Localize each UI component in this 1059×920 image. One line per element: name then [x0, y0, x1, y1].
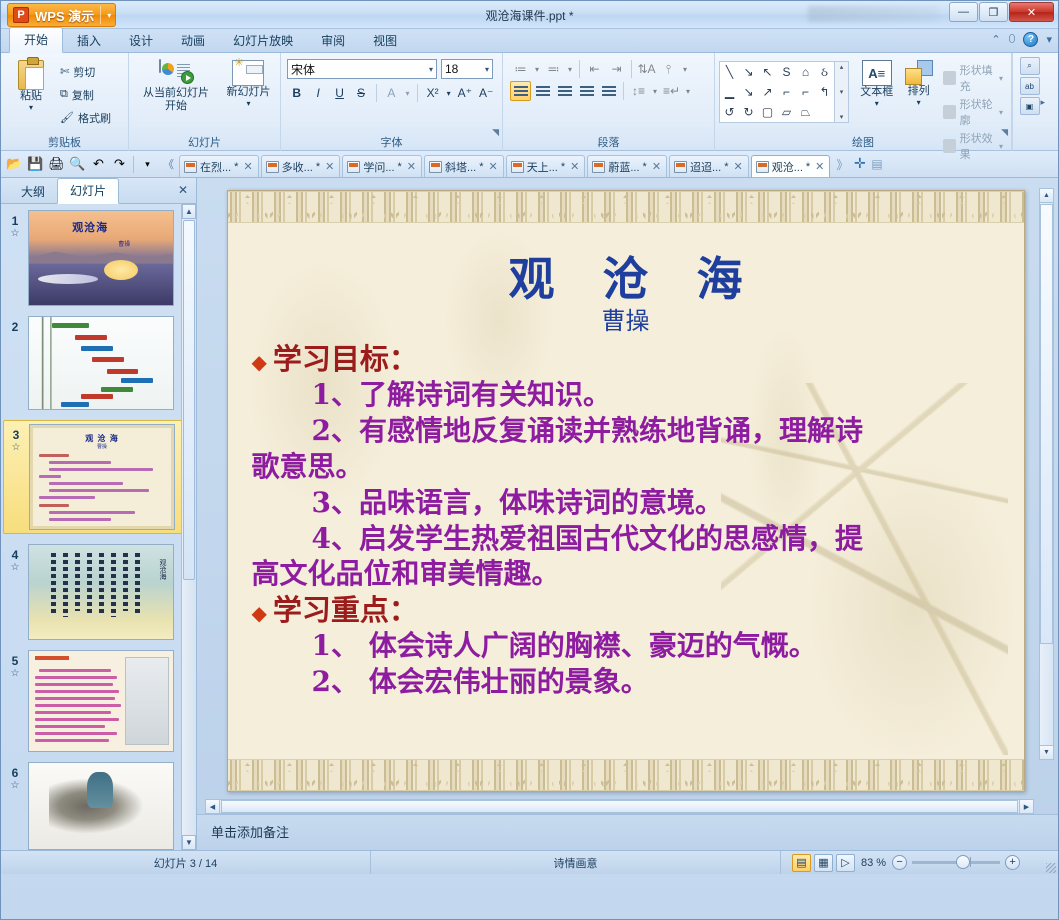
shape-arrow-2[interactable]: ↘ [739, 82, 758, 102]
shape-rectangle[interactable]: ▢ [758, 102, 777, 122]
shape-grid[interactable]: ╲ ↘ ↖ S ⌂ ઠ ▁ ↘ ↗ ⌐ ⌐ ↰ ↺ ↻ ▢ [719, 61, 835, 123]
increase-indent-button[interactable]: ⇥ [606, 59, 627, 79]
scrollbar-thumb[interactable] [1040, 204, 1053, 644]
doc-tab-label: 天上... [527, 159, 558, 175]
zoom-slider[interactable] [912, 861, 1000, 864]
chevron-down-icon[interactable]: ▾ [485, 65, 489, 74]
group-title-font: 字体 [281, 134, 502, 150]
slide-number: 3 ☆ [6, 424, 26, 453]
chevron-down-icon[interactable]: ▾ [683, 81, 693, 101]
ribbon-tab-view[interactable]: 视图 [359, 29, 411, 53]
slide-vertical-scrollbar[interactable]: ▲ ▼ [1039, 188, 1054, 760]
new-slide-icon: ✳ [232, 60, 264, 86]
ribbon-tab-slideshow[interactable]: 幻灯片放映 [219, 29, 307, 53]
doc-tab-1[interactable]: 在烈... * ✕ [179, 155, 259, 177]
doc-tab-modified: * [316, 161, 320, 173]
shrink-font-button[interactable]: A⁻ [477, 83, 496, 103]
thumbnail-preview[interactable] [28, 650, 174, 752]
doc-tab-modified: * [724, 161, 728, 173]
presentation-file-icon [511, 161, 524, 173]
doc-tab-6[interactable]: 蔚蓝... * ✕ [587, 155, 667, 177]
zoom-level: 83 % [861, 857, 886, 869]
drawing-dialog-launcher[interactable]: ◥ [1001, 127, 1008, 138]
view-normal-button[interactable]: ▤ [792, 854, 811, 872]
wps-presentation-window: P WPS 演示 ▾ 观沧海课件.ppt * — ❐ ✕ 开始 插入 设计 动画… [0, 0, 1059, 920]
divider [376, 84, 377, 102]
align-right-button[interactable] [554, 81, 575, 101]
greek-key-pattern [228, 192, 1024, 222]
pen-icon [943, 105, 956, 119]
body-line: 歌意思。 [252, 449, 1000, 485]
slide-counter: 幻灯片 3 / 14 [1, 851, 371, 874]
close-icon[interactable]: ✕ [733, 160, 742, 173]
scissors-icon: ✄ [60, 65, 69, 78]
scrollbar-thumb[interactable] [221, 800, 1018, 813]
tab-slides[interactable]: 幻灯片 [57, 178, 119, 204]
body-line: 高文化品位和审美情趣。 [252, 556, 1000, 592]
scroll-down-icon[interactable]: ▼ [182, 835, 196, 850]
font-name-combo[interactable]: 宋体 ▾ [287, 59, 437, 79]
start-from-current-slide-button[interactable]: 从当前幻灯片 开始 [137, 58, 215, 113]
font-dialog-launcher[interactable]: ◥ [492, 127, 499, 138]
font-color-button[interactable]: A [382, 83, 401, 103]
chevron-down-icon[interactable]: ▾ [1046, 33, 1052, 46]
close-button[interactable]: ✕ [1009, 2, 1054, 22]
diamond-bullet-icon: ◆ [252, 350, 267, 375]
italic-button[interactable]: I [308, 83, 327, 103]
bold-button[interactable]: B [287, 83, 306, 103]
doc-tab-label: 学问... [363, 159, 394, 175]
body-line: 3、品味语言，体味诗词的意境。 [252, 485, 1000, 521]
scroll-up-icon[interactable]: ▲ [1040, 189, 1053, 203]
paste-button[interactable]: 粘贴 ▾ [5, 58, 57, 112]
replace-icon[interactable]: ab [1020, 77, 1040, 95]
section-heading-2: ◆ 学习重点： [252, 592, 1000, 628]
chevron-down-icon[interactable]: ▾ [429, 65, 433, 74]
distributed-icon [602, 86, 616, 97]
bottom-border-band [228, 759, 1024, 791]
ribbon-tab-design[interactable]: 设计 [115, 29, 167, 53]
chevron-down-icon[interactable]: ▾ [565, 59, 575, 79]
arrange-icon [905, 60, 933, 85]
body-line: 2、 体会宏伟壮丽的景象。 [252, 664, 1000, 700]
shape-scribble[interactable]: ઠ [815, 62, 834, 82]
ribbon-group-paragraph: ≔ ▾ ≕ ▾ ⇤ ⇥ ⇅A ⫯ ▾ [503, 53, 715, 151]
textbox-button[interactable]: A≡ 文本框 ▾ [855, 58, 899, 108]
thumbnail-preview[interactable]: 观沧海 [28, 544, 174, 640]
notes-placeholder: 单击添加备注 [211, 825, 289, 840]
body-line: 2、有感情地反复诵读并熟练地背诵，理解诗 [252, 413, 1000, 449]
scroll-down-icon[interactable]: ▼ [1040, 745, 1053, 759]
chevron-down-icon[interactable]: ▾ [917, 98, 921, 107]
doc-tab-label: 多收... [282, 159, 313, 175]
doc-tab-label: 观沧... [772, 159, 803, 175]
paintbrush-icon: 🖌 [60, 111, 74, 124]
chevron-down-icon[interactable]: ▾ [444, 83, 453, 103]
align-left-icon [514, 86, 528, 97]
collapse-tabs-icon[interactable]: 《 [158, 154, 179, 175]
shape-trapezoid[interactable]: ⏢ [796, 102, 815, 122]
shape-blank[interactable] [815, 102, 834, 122]
shape-double-arrow[interactable]: ↖ [758, 62, 777, 82]
doc-tab-3[interactable]: 学问... * ✕ [342, 155, 422, 177]
decrease-indent-button[interactable]: ⇤ [584, 59, 605, 79]
chevron-down-icon[interactable]: ▾ [29, 103, 33, 112]
divider [579, 60, 580, 78]
numbering-button[interactable]: ≕ [543, 59, 564, 79]
strikethrough-button[interactable]: S [351, 83, 370, 103]
group-title-slide: 幻灯片 [129, 134, 280, 150]
ribbon-tab-insert[interactable]: 插入 [63, 29, 115, 53]
shape-curve-2[interactable]: ↺ [720, 102, 739, 122]
align-center-icon [536, 86, 550, 97]
slide-number: 2 [5, 316, 25, 334]
shape-elbow-2[interactable]: ⌐ [796, 82, 815, 102]
format-painter-button[interactable]: 🖌 格式刷 [57, 106, 114, 129]
align-center-button[interactable] [532, 81, 553, 101]
slide-horizontal-scrollbar[interactable]: ◀ ▶ [205, 799, 1034, 814]
slide-editor-pane: 观 沧 海 曹操 ◆ 学习目标： 1、了解诗词有关知识。 2、有感情地反复诵读并… [197, 178, 1058, 850]
group-title-clipboard: 剪贴板 [1, 134, 128, 150]
presentation-file-icon [429, 161, 442, 173]
align-left-button[interactable] [510, 81, 531, 101]
transition-icon[interactable]: ☆ [5, 228, 25, 239]
doc-tab-2[interactable]: 多收... * ✕ [261, 155, 341, 177]
doc-tab-label: 斜塔... [445, 159, 476, 175]
zoom-slider-midpoint [970, 857, 971, 867]
close-icon[interactable]: ✕ [570, 160, 579, 173]
ribbon-tab-home[interactable]: 开始 [9, 27, 63, 53]
presentation-file-icon [266, 161, 279, 173]
shape-elbow-1[interactable]: ⌐ [777, 82, 796, 102]
slides-panel: 大纲 幻灯片 ✕ 1 ☆ 观沧海 曹操 [1, 178, 197, 850]
scroll-up-icon[interactable]: ▴ [840, 63, 844, 71]
chevron-down-icon[interactable]: ▾ [875, 99, 879, 108]
shape-fill-label: 形状填充 [960, 62, 995, 94]
thumbnail-item-4[interactable]: 4 ☆ 观沧海 [5, 544, 196, 640]
thumb-title: 观沧海 [72, 219, 108, 235]
thumbnail-preview[interactable] [28, 762, 174, 850]
copy-icon: ⧉ [60, 88, 68, 101]
zoom-slider-handle[interactable] [956, 855, 970, 869]
shape-fill-button[interactable]: 形状填充 ▾ [943, 62, 1003, 94]
font-color-icon: A [387, 86, 395, 100]
thumbnail-item-5[interactable]: 5 ☆ [5, 650, 196, 752]
diamond-bullet-icon: ◆ [252, 601, 267, 626]
close-icon[interactable]: ✕ [652, 160, 661, 173]
undo-icon[interactable]: ↶ [88, 154, 109, 175]
zoom-out-button[interactable]: − [892, 855, 907, 870]
doc-tab-label: 在烈... [200, 159, 231, 175]
title-bar: P WPS 演示 ▾ 观沧海课件.ppt * — ❐ ✕ [1, 1, 1058, 29]
zoom-in-button[interactable]: + [1005, 855, 1020, 870]
heading-text: 学习重点： [273, 592, 418, 628]
print-preview-icon[interactable]: 🔍 [67, 154, 88, 175]
shape-line[interactable]: ╲ [720, 62, 739, 82]
thumb-author: 曹操 [118, 239, 130, 248]
notes-pane[interactable]: 单击添加备注 [197, 814, 1058, 850]
body-line: 1、 体会诗人广阔的胸襟、豪迈的气慨。 [252, 628, 1000, 664]
thumbnail-list[interactable]: 1 ☆ 观沧海 曹操 2 [1, 204, 196, 850]
shape-arrow[interactable]: ↘ [739, 62, 758, 82]
collapse-ribbon-icon[interactable]: ⌃ [991, 33, 1000, 46]
doc-tab-label: 迢迢... [690, 159, 721, 175]
textbox-icon: A≡ [862, 60, 892, 86]
presentation-file-icon [756, 161, 769, 173]
slide-surface[interactable]: 观 沧 海 曹操 ◆ 学习目标： 1、了解诗词有关知识。 2、有感情地反复诵读并… [227, 190, 1025, 792]
justify-icon [580, 86, 594, 97]
shape-curve[interactable]: S [777, 62, 796, 82]
transition-icon[interactable]: ☆ [5, 668, 25, 679]
close-icon[interactable]: ✕ [488, 160, 497, 173]
thumbnail-preview[interactable]: 观 沧 海 曹操 [29, 424, 175, 530]
window-controls: — ❐ ✕ [949, 2, 1054, 22]
maximize-button[interactable]: ❐ [979, 2, 1008, 22]
quickbar-more-icon[interactable]: ▾ [137, 154, 158, 175]
close-icon[interactable]: ✕ [815, 160, 824, 173]
theme-name: 诗情画意 [371, 851, 781, 874]
doc-tab-modified: * [643, 161, 647, 173]
body-line: 4、启发学生热爱祖国古代文化的思感情，提 [252, 521, 1000, 557]
slide-number: 4 ☆ [5, 544, 25, 573]
superscript-button[interactable]: X² [423, 83, 442, 103]
divider [631, 60, 632, 78]
textbox-label: 文本框 [860, 86, 893, 99]
ribbon-group-font: 宋体 ▾ 18 ▾ B I U S A [281, 53, 503, 151]
transition-icon[interactable]: ☆ [6, 442, 26, 453]
shape-curve-3[interactable]: ↻ [739, 102, 758, 122]
new-slide-button[interactable]: ✳ 新幻灯片 ▾ [221, 58, 276, 108]
chevron-down-icon[interactable]: ▾ [999, 108, 1003, 117]
shape-arrow-3[interactable]: ↗ [758, 82, 777, 102]
doc-tab-modified: * [398, 161, 402, 173]
new-slide-label: 新幻灯片 [226, 86, 270, 99]
expand-editing-icon[interactable]: ▸ [1040, 97, 1045, 108]
tab-outline[interactable]: 大纲 [9, 180, 57, 204]
top-border-band [228, 191, 1024, 223]
print-icon[interactable]: 🖨 [46, 154, 67, 175]
slide-number: 5 ☆ [5, 650, 25, 679]
shape-gallery[interactable]: ╲ ↘ ↖ S ⌂ ઠ ▁ ↘ ↗ ⌐ ⌐ ↰ ↺ ↻ ▢ [719, 58, 849, 123]
copy-label: 复制 [72, 87, 94, 103]
distributed-button[interactable] [598, 81, 619, 101]
format-painter-label: 格式刷 [78, 110, 111, 126]
slide-author[interactable]: 曹操 [228, 301, 1024, 336]
shape-elbow-3[interactable]: ↰ [815, 82, 834, 102]
slide-canvas[interactable]: 观 沧 海 曹操 ◆ 学习目标： 1、了解诗词有关知识。 2、有感情地反复诵读并… [197, 178, 1058, 814]
font-size-combo[interactable]: 18 ▾ [441, 59, 493, 79]
ribbon-group-editing: ⌕ ab ▣ ▸ [1012, 53, 1046, 150]
start-from-current-label-2: 开始 [165, 100, 187, 113]
body-line: 1、了解诗词有关知识。 [252, 377, 1000, 413]
doc-tab-label: 蔚蓝... [608, 159, 639, 175]
thumbnail-item-3-selected[interactable]: 3 ☆ 观 沧 海 曹操 [3, 420, 196, 534]
slide-number: 1 ☆ [5, 210, 25, 239]
shape-parallelogram[interactable]: ▱ [777, 102, 796, 122]
scrollbar-thumb[interactable] [183, 220, 195, 580]
scroll-left-icon[interactable]: ◀ [206, 800, 220, 813]
justify-button[interactable] [576, 81, 597, 101]
bullets-button[interactable]: ≔ [510, 59, 531, 79]
align-text-button[interactable]: ⫯ [658, 59, 679, 79]
font-size-value: 18 [445, 62, 458, 76]
doc-tab-modified: * [234, 161, 238, 173]
thumbnail-item-2[interactable]: 2 [5, 316, 196, 410]
paint-bucket-icon [943, 71, 956, 85]
view-slide-sorter-button[interactable]: ▦ [814, 854, 833, 872]
doc-tab-4[interactable]: 斜塔... * ✕ [424, 155, 504, 177]
arrange-button[interactable]: 排列 ▾ [899, 58, 939, 107]
cut-label: 剪切 [73, 64, 95, 80]
scroll-right-icon[interactable]: ▶ [1019, 800, 1033, 813]
main-area: 大纲 幻灯片 ✕ 1 ☆ 观沧海 曹操 [1, 178, 1058, 850]
ribbon: 粘贴 ▾ ✄ 剪切 ⧉ 复制 🖌 格式刷 [1, 53, 1058, 151]
clipboard-icon [18, 60, 44, 90]
heading-text: 学习目标： [273, 341, 418, 377]
divider [417, 84, 418, 102]
find-icon[interactable]: ⌕ [1020, 57, 1040, 75]
presentation-file-icon [592, 161, 605, 173]
font-name-value: 宋体 [291, 61, 315, 78]
redo-icon[interactable]: ↷ [109, 154, 130, 175]
cut-button[interactable]: ✄ 剪切 [57, 60, 114, 83]
doc-tab-modified: * [561, 161, 565, 173]
thumbnail-preview[interactable]: 观沧海 曹操 [28, 210, 174, 306]
projector-play-icon [159, 60, 193, 87]
ribbon-tab-review[interactable]: 审阅 [307, 29, 359, 53]
status-bar: 幻灯片 3 / 14 诗情画意 ▤ ▦ ▷ 83 % − + [1, 850, 1058, 874]
ribbon-group-slide: 从当前幻灯片 开始 ✳ 新幻灯片 ▾ 幻灯片 [129, 53, 281, 151]
close-icon[interactable]: ✕ [407, 160, 416, 173]
chevron-down-icon[interactable]: ▾ [403, 83, 412, 103]
close-icon[interactable]: ✕ [243, 160, 252, 173]
transition-icon[interactable]: ☆ [5, 780, 25, 791]
start-from-current-label-1: 从当前幻灯片 [143, 87, 209, 100]
resize-grip[interactable] [1046, 863, 1056, 873]
thumb-title: 观沧海 [157, 559, 167, 580]
thumbnail-preview[interactable] [28, 316, 174, 410]
skin-icon[interactable]: ⬯ [1009, 33, 1016, 46]
group-title-drawing: 绘图 [715, 134, 1011, 150]
copy-button[interactable]: ⧉ 复制 [57, 83, 114, 106]
shape-line-2[interactable]: ▁ [720, 82, 739, 102]
help-icon[interactable]: ? [1023, 32, 1038, 47]
presentation-file-icon [347, 161, 360, 173]
ribbon-right-controls: ⌃ ⬯ ? ▾ [991, 32, 1052, 47]
close-panel-icon[interactable]: ✕ [178, 183, 188, 197]
thumbnail-scrollbar[interactable]: ▲ ▼ [181, 204, 196, 850]
shape-outline-label: 形状轮廓 [960, 96, 995, 128]
close-icon[interactable]: ✕ [325, 160, 334, 173]
thumb-author: 曹操 [97, 443, 107, 450]
text-direction-button[interactable]: ⇅A [636, 59, 657, 79]
slide-title[interactable]: 观 沧 海 [228, 243, 1024, 309]
doc-tab-7[interactable]: 迢迢... * ✕ [669, 155, 749, 177]
ribbon-tab-animation[interactable]: 动画 [167, 29, 219, 53]
divider [623, 82, 624, 100]
transition-icon[interactable]: ☆ [5, 562, 25, 573]
slide-number: 6 ☆ [5, 762, 25, 791]
select-icon[interactable]: ▣ [1020, 97, 1040, 115]
thumbnail-item-1[interactable]: 1 ☆ 观沧海 曹操 [5, 210, 196, 306]
slides-panel-tabs: 大纲 幻灯片 ✕ [1, 178, 196, 204]
ribbon-group-clipboard: 粘贴 ▾ ✄ 剪切 ⧉ 复制 🖌 格式刷 [1, 53, 129, 151]
blurred-account-area [808, 6, 938, 22]
grow-font-button[interactable]: A⁺ [455, 83, 474, 103]
slide-body-textbox[interactable]: ◆ 学习目标： 1、了解诗词有关知识。 2、有感情地反复诵读并熟练地背诵，理解诗… [252, 341, 1000, 700]
doc-tab-modified: * [806, 161, 810, 173]
arrange-label: 排列 [908, 85, 930, 98]
divider [133, 156, 134, 173]
minimize-button[interactable]: — [949, 2, 978, 22]
doc-tab-8-active[interactable]: 观沧... * ✕ [751, 155, 831, 177]
scroll-up-icon[interactable]: ▲ [182, 204, 196, 219]
align-right-icon [558, 86, 572, 97]
line-spacing-button[interactable]: ↕≡ [628, 81, 649, 101]
greek-key-pattern [228, 760, 1024, 790]
underline-button[interactable]: U [330, 83, 349, 103]
columns-button[interactable]: ≡↵ [661, 81, 682, 101]
open-icon[interactable]: 📂 [4, 154, 25, 175]
shape-gallery-more-icon[interactable]: ▾ [840, 113, 844, 121]
scroll-down-icon[interactable]: ▾ [840, 88, 844, 96]
chevron-down-icon[interactable]: ▾ [532, 59, 542, 79]
chevron-down-icon[interactable]: ▾ [650, 81, 660, 101]
chevron-down-icon[interactable]: ▾ [680, 59, 690, 79]
paste-label: 粘贴 [20, 90, 42, 103]
shape-outline-button[interactable]: 形状轮廓 ▾ [943, 96, 1003, 128]
doc-tab-5[interactable]: 天上... * ✕ [506, 155, 586, 177]
shape-freeform[interactable]: ⌂ [796, 62, 815, 82]
ribbon-tab-strip: 开始 插入 设计 动画 幻灯片放映 审阅 视图 ⌃ ⬯ ? ▾ [1, 29, 1058, 53]
doc-tab-modified: * [479, 161, 483, 173]
chevron-down-icon[interactable]: ▾ [999, 74, 1003, 83]
view-slideshow-button[interactable]: ▷ [836, 854, 855, 872]
group-title-paragraph: 段落 [503, 134, 714, 150]
presentation-file-icon [184, 161, 197, 173]
ribbon-group-drawing: ╲ ↘ ↖ S ⌂ ઠ ▁ ↘ ↗ ⌐ ⌐ ↰ ↺ ↻ ▢ [715, 53, 1012, 151]
section-heading-1: ◆ 学习目标： [252, 341, 1000, 377]
thumbnail-item-6[interactable]: 6 ☆ [5, 762, 196, 850]
chevron-down-icon[interactable]: ▾ [246, 99, 250, 108]
shape-gallery-scrollbar[interactable]: ▴ ▾ ▾ [835, 61, 849, 123]
save-icon[interactable]: 💾 [25, 154, 46, 175]
presentation-file-icon [674, 161, 687, 173]
